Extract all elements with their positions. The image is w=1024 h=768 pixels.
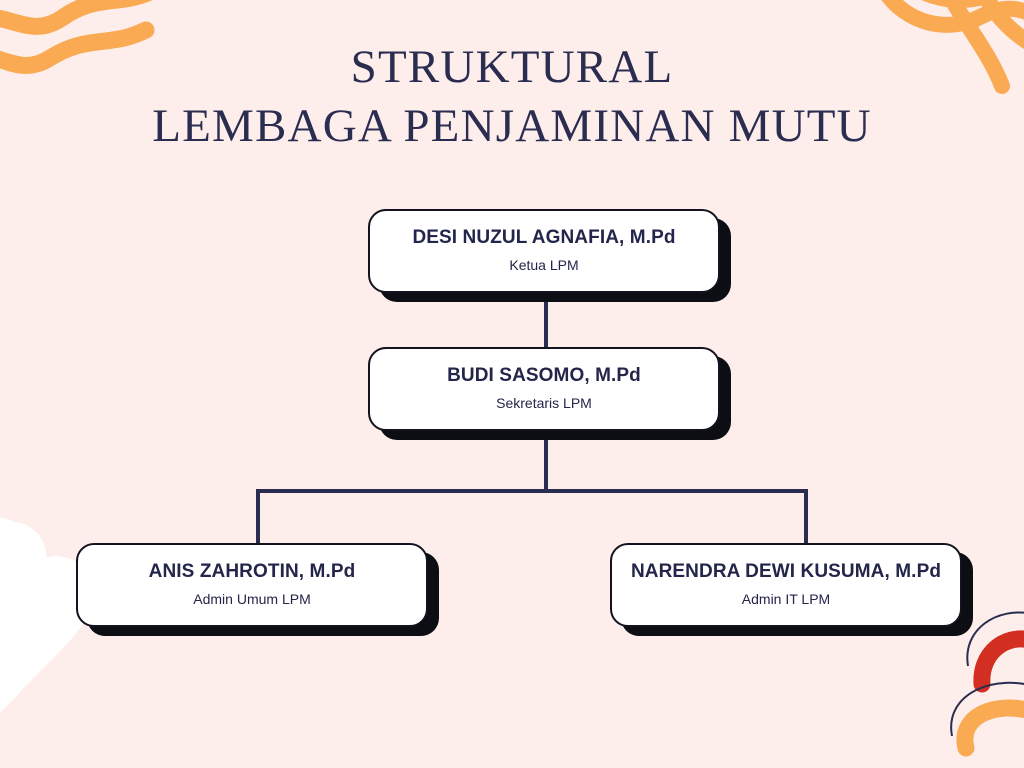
page-title: STRUKTURAL LEMBAGA PENJAMINAN MUTU [0,38,1024,156]
org-node-ketua-name: DESI NUZUL AGNAFIA, M.Pd [412,226,675,250]
connector-ketua-to-sekretaris [544,291,548,349]
connector-sekretaris-stem [544,429,548,491]
org-node-admin-it[interactable]: NARENDRA DEWI KUSUMA, M.Pd Admin IT LPM [610,543,962,627]
connector-bus-to-admin-it [804,489,808,545]
org-node-admin-umum-role: Admin Umum LPM [193,588,310,610]
slide-canvas: STRUKTURAL LEMBAGA PENJAMINAN MUTU DESI … [0,0,1024,768]
org-node-sekretaris[interactable]: BUDI SASOMO, M.Pd Sekretaris LPM [368,347,720,431]
red-hook-bottom-right-icon [967,612,1024,684]
page-title-line-1: STRUKTURAL [0,38,1024,96]
org-node-admin-umum-name: ANIS ZAHROTIN, M.Pd [149,560,356,584]
org-node-admin-umum[interactable]: ANIS ZAHROTIN, M.Pd Admin Umum LPM [76,543,428,627]
org-node-ketua[interactable]: DESI NUZUL AGNAFIA, M.Pd Ketua LPM [368,209,720,293]
org-node-ketua-role: Ketua LPM [509,254,578,276]
page-title-line-2: LEMBAGA PENJAMINAN MUTU [0,96,1024,156]
connector-horizontal-bus [256,489,808,493]
orange-hook-bottom-right-icon [951,683,1024,748]
org-node-admin-it-role: Admin IT LPM [742,588,830,610]
org-node-sekretaris-role: Sekretaris LPM [496,392,592,414]
org-node-admin-it-name: NARENDRA DEWI KUSUMA, M.Pd [631,560,941,584]
connector-bus-to-admin-umum [256,489,260,545]
org-node-sekretaris-name: BUDI SASOMO, M.Pd [447,364,641,388]
